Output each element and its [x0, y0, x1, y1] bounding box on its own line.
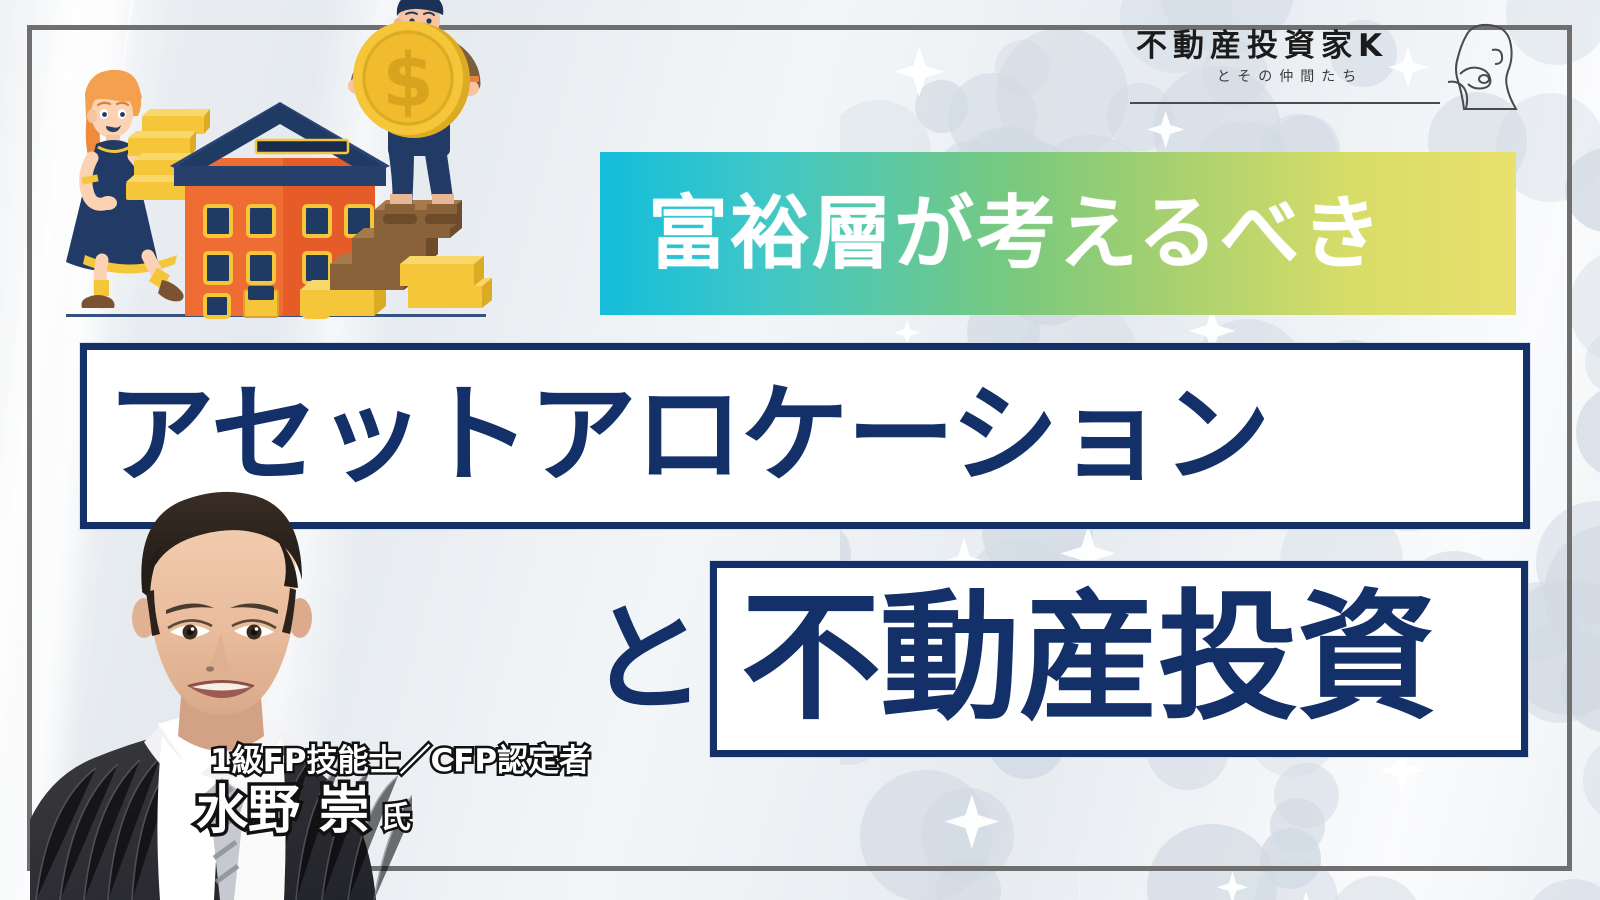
- title-line-2-text: 不動産投資: [717, 589, 1436, 729]
- subtitle-banner-text: 富裕層が考えるべき: [600, 194, 1384, 274]
- logo-sub-text: とその仲間たち: [1128, 66, 1458, 88]
- speaker-name: 水野 崇: [196, 780, 370, 842]
- thinking-person-icon: [1436, 22, 1524, 110]
- background-dot: [1524, 879, 1600, 900]
- title-box-secondary: 不動産投資: [710, 561, 1528, 757]
- speaker-info: 1級FP技能士／CFP認定者 水野 崇 氏: [196, 742, 626, 842]
- background-dot: [1583, 736, 1600, 824]
- speaker-credentials: 1級FP技能士／CFP認定者: [196, 742, 626, 780]
- background-dot: [1260, 828, 1321, 889]
- logo-underline: [1130, 102, 1440, 104]
- speaker-name-suffix: 氏: [380, 792, 411, 837]
- background-dot: [1576, 385, 1600, 480]
- slide-canvas: $ 不動産投資家K とその仲間たち 富裕層が考えるべき アセットアロケーション …: [0, 0, 1600, 900]
- real-estate-investment-illustration: $: [52, 0, 502, 328]
- brand-logo[interactable]: 不動産投資家K とその仲間たち: [1128, 26, 1458, 106]
- dollar-coin-symbol: $: [382, 38, 434, 124]
- background-dot: [1329, 876, 1422, 900]
- subtitle-banner: 富裕層が考えるべき: [600, 152, 1516, 315]
- background-sparkle: [894, 319, 920, 345]
- background-dot: [1569, 248, 1600, 366]
- title-connector-character: と: [588, 600, 708, 730]
- background-dot: [915, 80, 968, 133]
- logo-main-text: 不動産投資家K: [1128, 26, 1458, 66]
